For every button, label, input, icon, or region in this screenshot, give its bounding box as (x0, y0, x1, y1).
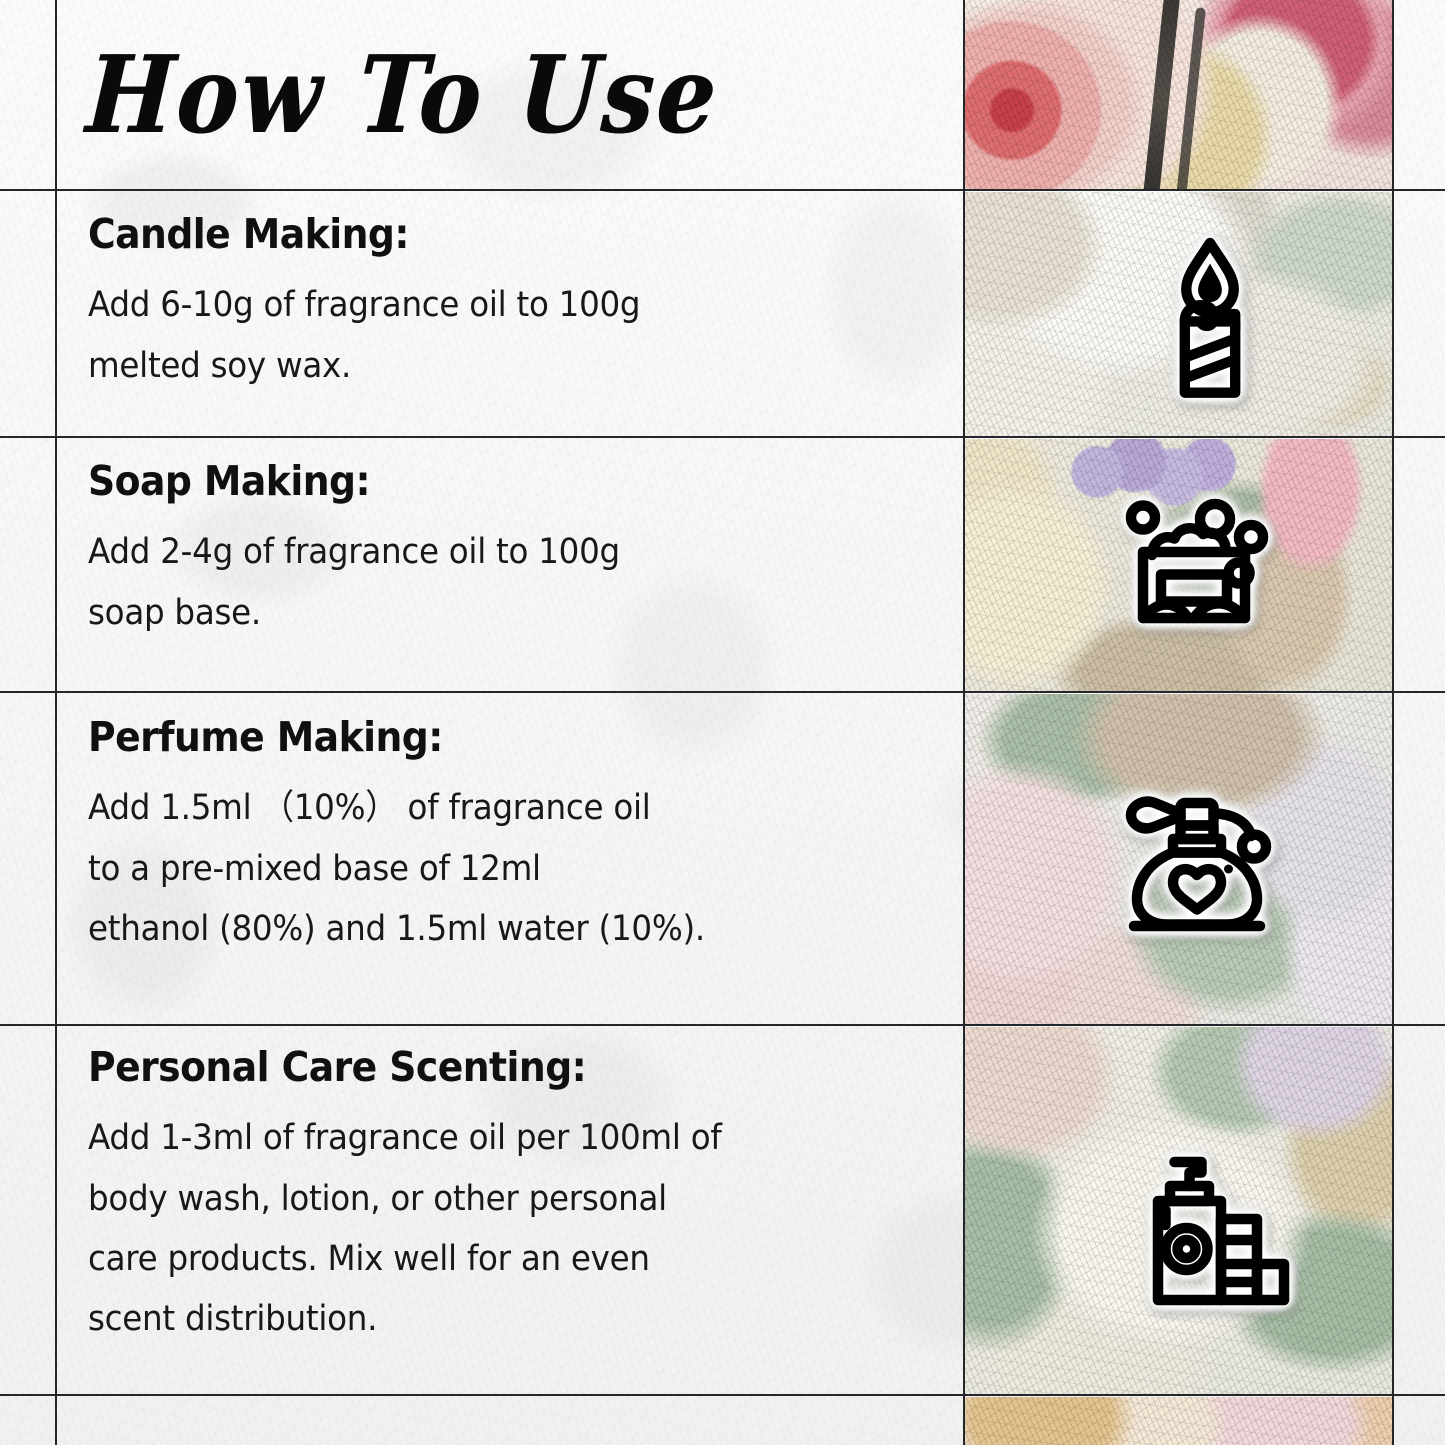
right-margin-rule (1392, 0, 1394, 1445)
soap-bar-bubbles-icon (1110, 482, 1295, 652)
header-artwork-cell (965, 0, 1392, 190)
section-heading: Candle Making: (88, 213, 880, 256)
divider-personal-care (0, 1394, 1445, 1396)
bottom-artwork-cell (965, 1397, 1392, 1445)
column-split-rule (963, 0, 965, 1445)
section-heading: Personal Care Scenting: (88, 1046, 880, 1089)
divider-header (0, 189, 1445, 191)
section-perfume-making: Perfume Making: Add 1.5ml （10%） of fragr… (57, 716, 963, 959)
how-to-use-infographic: How To Use Candle Making: Add 6-10g of f… (0, 0, 1445, 1445)
section-personal-care-scenting: Personal Care Scenting: Add 1-3ml of fra… (57, 1046, 963, 1349)
header-row: How To Use (57, 0, 963, 190)
section-body: Add 1.5ml （10%） of fragrance oil to a pr… (88, 778, 889, 959)
left-margin-rule (55, 0, 57, 1445)
section-soap-making: Soap Making: Add 2-4g of fragrance oil t… (57, 460, 963, 643)
section-candle-making: Candle Making: Add 6-10g of fragrance oi… (57, 213, 963, 396)
section-heading: Perfume Making: (88, 716, 880, 759)
section-body: Add 6-10g of fragrance oil to 100g melte… (88, 275, 889, 395)
pump-bottle-tube-soap-icon (1112, 1146, 1302, 1321)
section-heading: Soap Making: (88, 460, 880, 503)
section-body: Add 1-3ml of fragrance oil per 100ml of … (88, 1108, 889, 1349)
perfume-atomizer-heart-icon (1105, 786, 1295, 951)
divider-perfume (0, 1024, 1445, 1026)
page-title: How To Use (84, 42, 722, 149)
divider-candle (0, 436, 1445, 438)
divider-soap (0, 691, 1445, 693)
section-body: Add 2-4g of fragrance oil to 100g soap b… (88, 522, 889, 642)
candle-icon (1120, 232, 1300, 407)
